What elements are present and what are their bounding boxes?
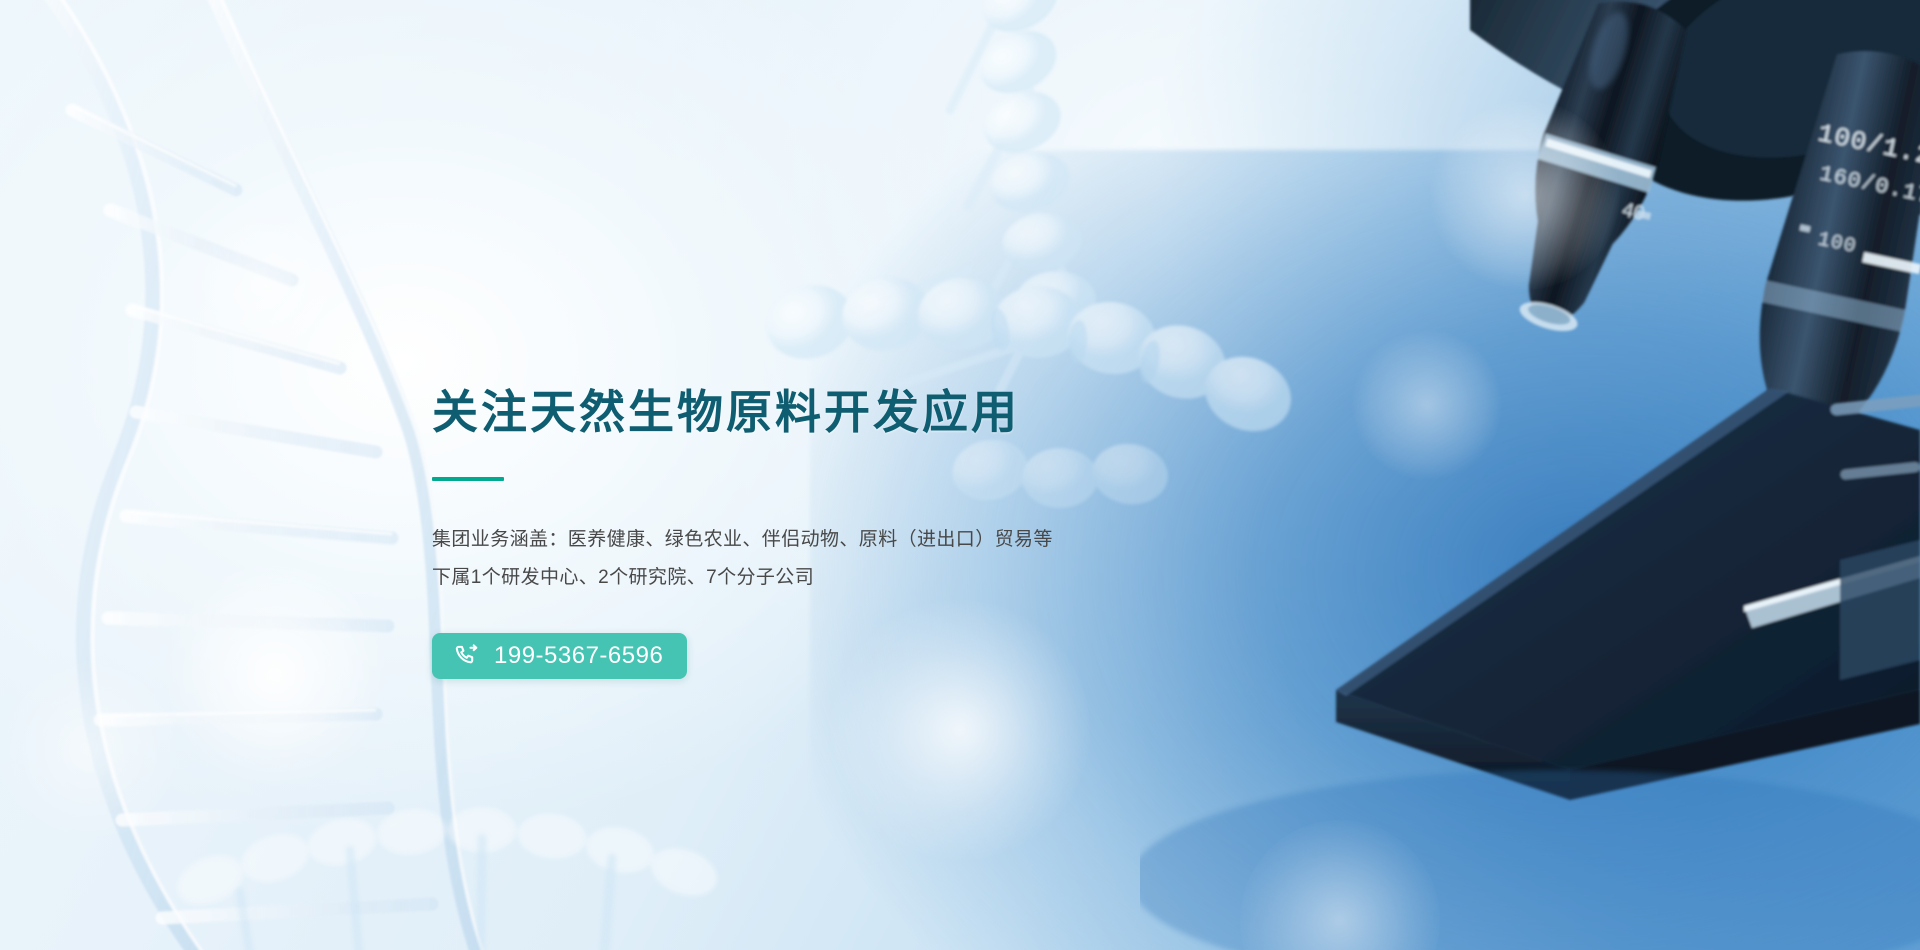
description-line-2: 下属1个研发中心、2个研究院、7个分子公司 xyxy=(432,559,1292,597)
hero-content: 关注天然生物原料开发应用 集团业务涵盖：医养健康、绿色农业、伴侣动物、原料（进出… xyxy=(432,386,1292,679)
phone-cta-button[interactable]: 199-5367-6596 xyxy=(432,633,687,679)
hero-description: 集团业务涵盖：医养健康、绿色农业、伴侣动物、原料（进出口）贸易等 下属1个研发中… xyxy=(432,521,1292,597)
phone-number-label: 199-5367-6596 xyxy=(494,642,663,670)
hero-banner: 40 100/1.25 160/0.17 100 xyxy=(0,0,1920,950)
phone-forward-icon xyxy=(454,643,480,669)
title-divider xyxy=(432,477,504,481)
page-title: 关注天然生物原料开发应用 xyxy=(432,386,1292,439)
description-line-1: 集团业务涵盖：医养健康、绿色农业、伴侣动物、原料（进出口）贸易等 xyxy=(432,521,1292,559)
